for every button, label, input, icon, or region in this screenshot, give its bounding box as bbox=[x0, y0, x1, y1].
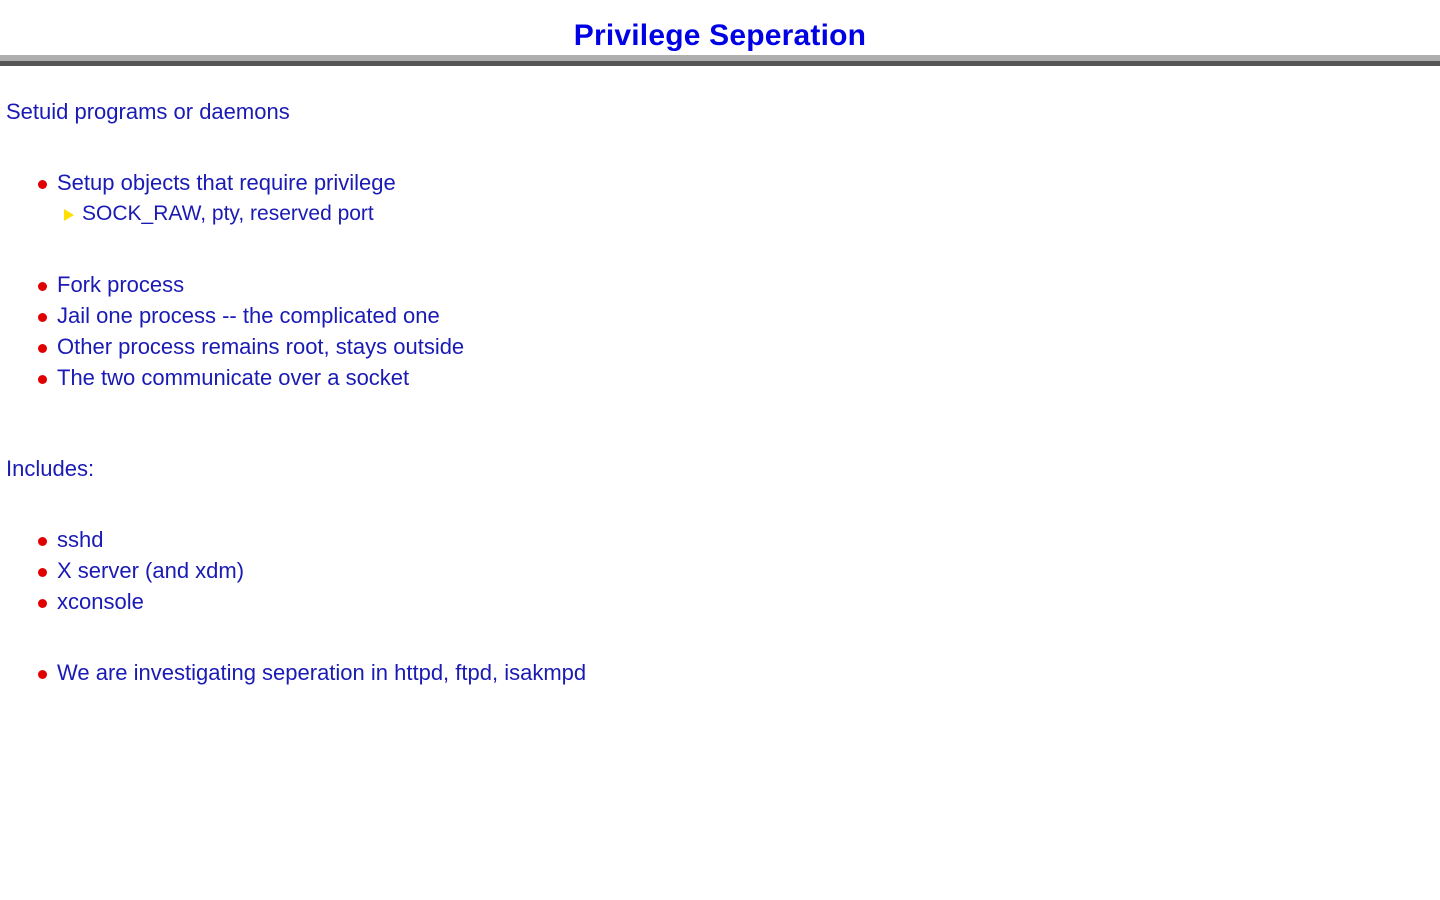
bullet-label: sshd bbox=[57, 527, 103, 552]
section-heading: Setuid programs or daemons bbox=[6, 96, 1440, 127]
bullet-item: The two communicate over a socket bbox=[38, 362, 1440, 393]
spacer bbox=[0, 393, 1440, 433]
sub-bullet-item: SOCK_RAW, pty, reserved port bbox=[64, 198, 1440, 229]
bullet-label: xconsole bbox=[57, 589, 144, 614]
bullet-item: xconsole bbox=[38, 586, 1440, 617]
bullet-label: X server (and xdm) bbox=[57, 558, 244, 583]
section-heading: Includes: bbox=[6, 453, 1440, 484]
bullet-dot-icon bbox=[38, 282, 47, 291]
bullet-label: Jail one process -- the complicated one bbox=[57, 303, 440, 328]
spacer bbox=[0, 617, 1440, 657]
bullet-dot-icon bbox=[38, 568, 47, 577]
spacer bbox=[0, 484, 1440, 524]
section-includes: Includes: sshd X server (and xdm) xconso… bbox=[0, 453, 1440, 688]
spacer bbox=[0, 127, 1440, 167]
sub-bullet-label: SOCK_RAW, pty, reserved port bbox=[82, 202, 374, 225]
bullet-dot-icon bbox=[38, 344, 47, 353]
bullet-label: Fork process bbox=[57, 272, 184, 297]
bullet-dot-icon bbox=[38, 537, 47, 546]
section-setuid: Setuid programs or daemons Setup objects… bbox=[0, 96, 1440, 393]
page-title: Privilege Seperation bbox=[0, 18, 1440, 54]
title-divider-rule bbox=[0, 55, 1440, 66]
bullet-dot-icon bbox=[38, 180, 47, 189]
bullet-dot-icon bbox=[38, 375, 47, 384]
bullet-item: Fork process bbox=[38, 269, 1440, 300]
bullet-item: X server (and xdm) bbox=[38, 555, 1440, 586]
bullet-dot-icon bbox=[38, 599, 47, 608]
bullet-label: Setup objects that require privilege bbox=[57, 170, 396, 195]
divider-dark-band bbox=[0, 61, 1440, 66]
bullet-dot-icon bbox=[38, 313, 47, 322]
bullet-triangle-icon bbox=[64, 209, 74, 221]
bullet-label: The two communicate over a socket bbox=[57, 365, 409, 390]
slide-page: { "slide": { "title": "Privilege Seperat… bbox=[0, 0, 1440, 900]
bullet-item: sshd bbox=[38, 524, 1440, 555]
bullet-dot-icon bbox=[38, 670, 47, 679]
bullet-item: Other process remains root, stays outsid… bbox=[38, 331, 1440, 362]
spacer bbox=[0, 229, 1440, 269]
slide-content: Setuid programs or daemons Setup objects… bbox=[0, 96, 1440, 688]
bullet-item: Jail one process -- the complicated one bbox=[38, 300, 1440, 331]
spacer bbox=[0, 433, 1440, 453]
bullet-item: We are investigating seperation in httpd… bbox=[38, 657, 1440, 688]
bullet-label: We are investigating seperation in httpd… bbox=[57, 660, 586, 685]
bullet-label: Other process remains root, stays outsid… bbox=[57, 334, 464, 359]
bullet-item: Setup objects that require privilege bbox=[38, 167, 1440, 198]
